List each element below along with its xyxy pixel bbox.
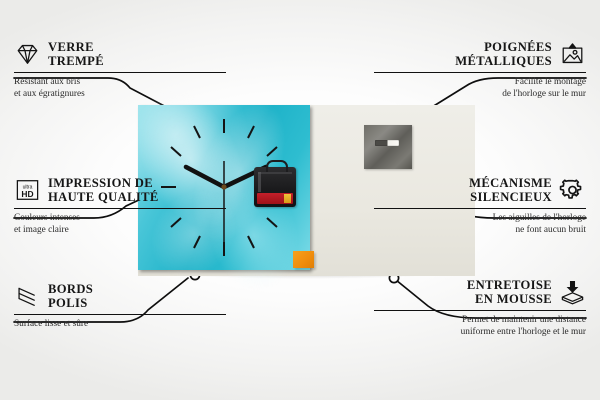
feature-title: POIGNÉES MÉTALLIQUES bbox=[455, 40, 552, 69]
ultra-hd-icon: ultra HD bbox=[14, 177, 41, 203]
feature-title-line1: POIGNÉES bbox=[455, 40, 552, 54]
svg-text:HD: HD bbox=[21, 189, 33, 199]
feature-desc-line2: et image claire bbox=[14, 225, 226, 236]
tick-7 bbox=[194, 236, 200, 248]
feature-title-line2: TREMPÉ bbox=[48, 54, 104, 68]
feature-description: Facilite le montage de l'horloge sur le … bbox=[374, 77, 586, 99]
divider bbox=[14, 72, 226, 74]
feature-header: ENTRETOISE EN MOUSSE bbox=[374, 278, 586, 307]
picture-hanger-icon bbox=[559, 41, 586, 67]
tick-11 bbox=[194, 126, 200, 138]
foam-spacer bbox=[293, 251, 314, 268]
feature-title-line1: IMPRESSION DE bbox=[48, 176, 159, 190]
feature-desc-line1: Résistant aux bris bbox=[14, 77, 226, 88]
feature-header: ultra HD IMPRESSION DE HAUTE QUALITÉ bbox=[14, 176, 226, 205]
gear-icon bbox=[559, 177, 586, 203]
feature-title-line1: BORDS bbox=[48, 282, 93, 296]
feature-bords-polis: BORDS POLIS Surface lisse et sûre bbox=[14, 282, 226, 331]
feature-desc-line2: et aux égratignures bbox=[14, 89, 226, 100]
tick-5 bbox=[248, 236, 254, 248]
diamond-icon bbox=[14, 41, 41, 67]
feature-title-line1: MÉCANISME bbox=[469, 176, 552, 190]
feature-desc-line1: Facilite le montage bbox=[374, 77, 586, 88]
feature-description: Surface lisse et sûre bbox=[14, 319, 226, 330]
polished-edges-icon bbox=[14, 283, 41, 309]
feature-desc-line1: Surface lisse et sûre bbox=[14, 319, 226, 330]
mechanism-body bbox=[258, 172, 292, 192]
feature-verre-trempe: VERRE TREMPÉ Résistant aux bris et aux é… bbox=[14, 40, 226, 100]
divider bbox=[14, 314, 226, 316]
metal-hanger-plate bbox=[364, 125, 412, 169]
feature-title: VERRE TREMPÉ bbox=[48, 40, 104, 69]
divider bbox=[14, 208, 226, 210]
feature-mecanisme-silencieux: MÉCANISME SILENCIEUX Les aiguilles de l'… bbox=[374, 176, 586, 236]
feature-title-line2: POLIS bbox=[48, 296, 93, 310]
feature-title-line2: EN MOUSSE bbox=[467, 292, 552, 306]
feature-title-line2: HAUTE QUALITÉ bbox=[48, 190, 159, 204]
battery bbox=[257, 193, 293, 204]
feature-header: BORDS POLIS bbox=[14, 282, 226, 311]
tick-2 bbox=[267, 147, 277, 156]
feature-poignees-metalliques: POIGNÉES MÉTALLIQUES Facilite le montage… bbox=[374, 40, 586, 100]
tick-10 bbox=[171, 147, 181, 156]
foam-spacer-icon bbox=[559, 279, 586, 305]
feature-description: Couleurs intenses et image claire bbox=[14, 213, 226, 235]
feature-header: MÉCANISME SILENCIEUX bbox=[374, 176, 586, 205]
feature-entretoise-en-mousse: ENTRETOISE EN MOUSSE Permet de maintenir… bbox=[374, 278, 586, 338]
feature-description: Permet de maintenir une distance uniform… bbox=[374, 315, 586, 337]
clock-mechanism bbox=[254, 167, 296, 207]
feature-desc-line2: ne font aucun bruit bbox=[374, 225, 586, 236]
mechanism-hook bbox=[266, 160, 288, 172]
feature-description: Résistant aux bris et aux égratignures bbox=[14, 77, 226, 99]
infographic-canvas: VERRE TREMPÉ Résistant aux bris et aux é… bbox=[0, 0, 600, 400]
feature-title-line2: SILENCIEUX bbox=[469, 190, 552, 204]
hanger-slot bbox=[375, 140, 399, 146]
feature-title-line1: VERRE bbox=[48, 40, 104, 54]
divider bbox=[374, 72, 586, 74]
feature-title-line2: MÉTALLIQUES bbox=[455, 54, 552, 68]
feature-desc-line2: de l'horloge sur le mur bbox=[374, 89, 586, 100]
feature-desc-line1: Couleurs intenses bbox=[14, 213, 226, 224]
feature-title-line1: ENTRETOISE bbox=[467, 278, 552, 292]
feature-header: POIGNÉES MÉTALLIQUES bbox=[374, 40, 586, 69]
feature-title: ENTRETOISE EN MOUSSE bbox=[467, 278, 552, 307]
feature-title: MÉCANISME SILENCIEUX bbox=[469, 176, 552, 205]
feature-header: VERRE TREMPÉ bbox=[14, 40, 226, 69]
tick-4 bbox=[267, 218, 277, 227]
feature-title: BORDS POLIS bbox=[48, 282, 93, 311]
divider bbox=[374, 208, 586, 210]
feature-description: Les aiguilles de l'horloge ne font aucun… bbox=[374, 213, 586, 235]
feature-title: IMPRESSION DE HAUTE QUALITÉ bbox=[48, 176, 159, 205]
feature-desc-line2: uniforme entre l'horloge et le mur bbox=[374, 327, 586, 338]
feature-desc-line1: Permet de maintenir une distance bbox=[374, 315, 586, 326]
divider bbox=[374, 310, 586, 312]
feature-impression-haute-qualite: ultra HD IMPRESSION DE HAUTE QUALITÉ Cou… bbox=[14, 176, 226, 236]
tick-1 bbox=[248, 126, 254, 138]
feature-desc-line1: Les aiguilles de l'horloge bbox=[374, 213, 586, 224]
